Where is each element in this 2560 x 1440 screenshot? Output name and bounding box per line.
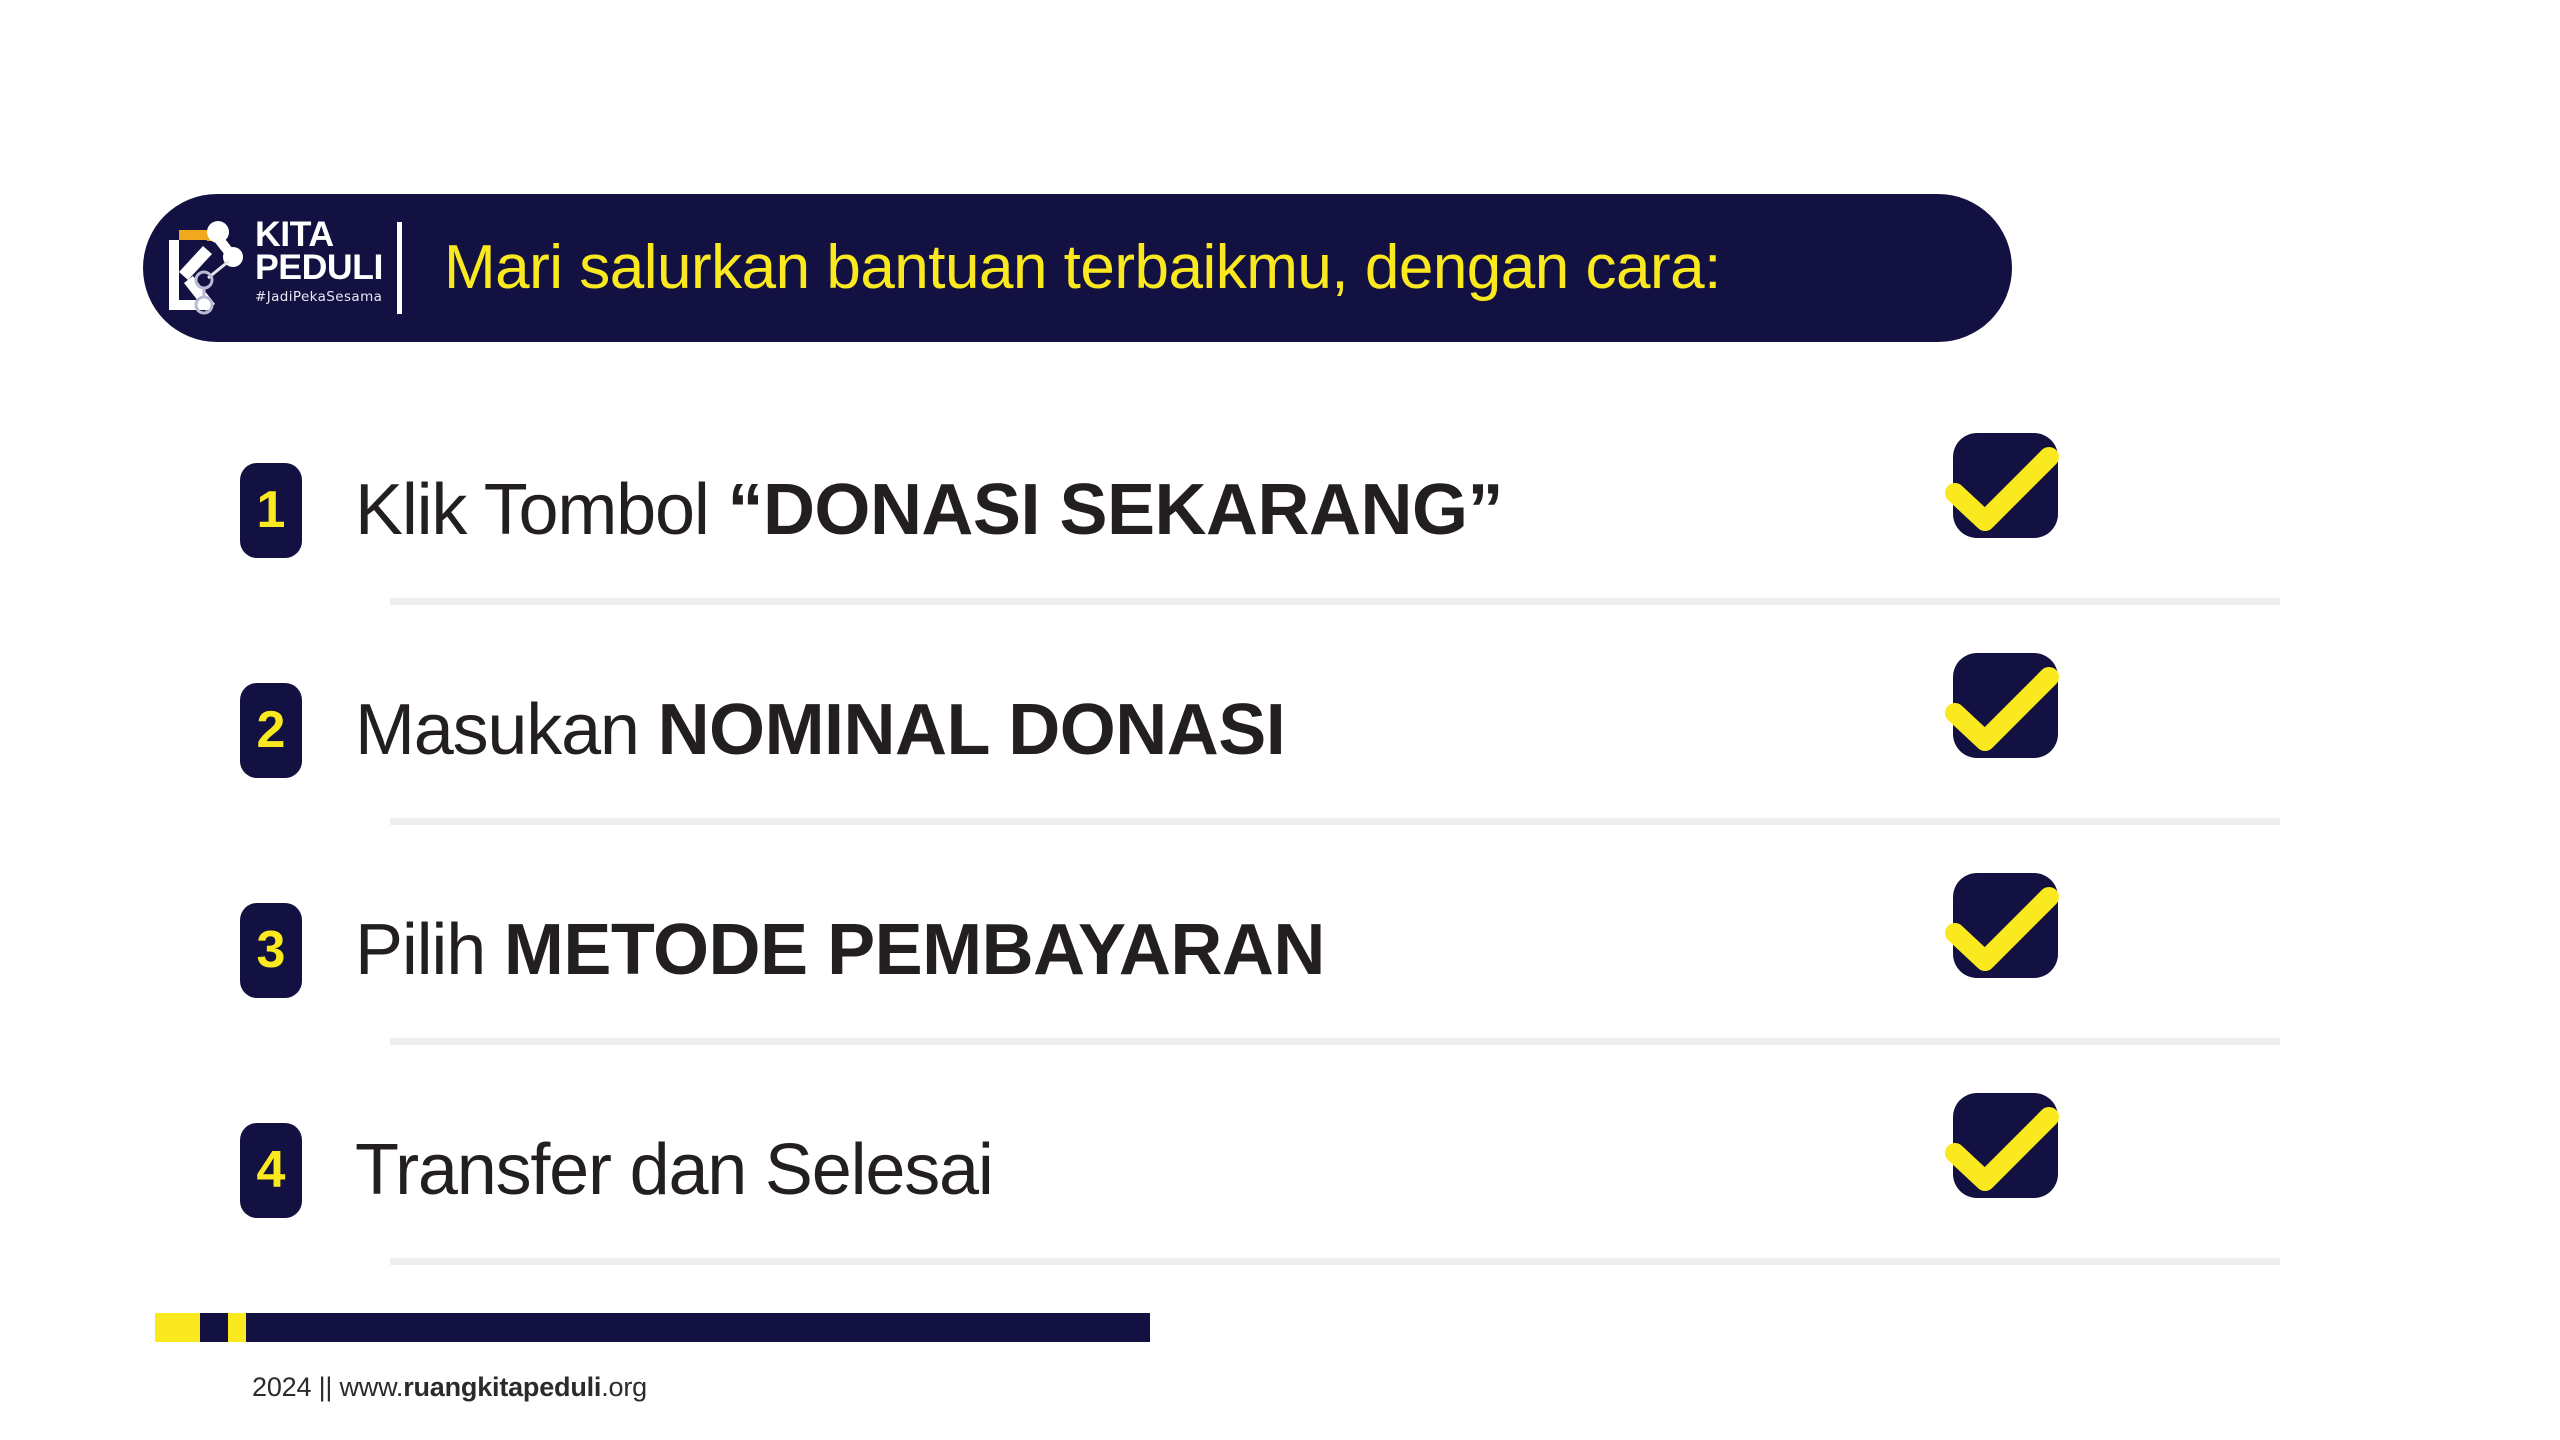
checkmark-icon[interactable] [1953, 653, 2058, 758]
checkmark-icon[interactable] [1953, 433, 2058, 538]
step-label-plain: Transfer dan Selesai [355, 1130, 993, 1210]
footer-bar-segment-yellow [155, 1313, 200, 1342]
step-label-strong: NOMINAL DONASI [658, 690, 1286, 770]
step-label-strong: METODE PEMBAYARAN [504, 910, 1325, 990]
step-number-badge: 4 [240, 1123, 302, 1218]
step-row: 2 Masukan NOMINAL DONASI [0, 640, 2560, 860]
steps-list: 1 Klik Tombol “DONASI SEKARANG” 2 Masuka… [0, 420, 2560, 1300]
step-number-badge: 2 [240, 683, 302, 778]
brand-logo: KITA PEDULI #JadiPekaSesama [143, 194, 393, 342]
checkmark-icon[interactable] [1953, 873, 2058, 978]
step-label: Pilih METODE PEMBAYARAN [355, 914, 1325, 986]
checkmark-icon[interactable] [1953, 1093, 2058, 1198]
step-number-badge: 1 [240, 463, 302, 558]
step-content: 4 Transfer dan Selesai [240, 1080, 2560, 1260]
wordmark-line-peduli: PEDULI [255, 251, 388, 284]
step-label: Klik Tombol “DONASI SEKARANG” [355, 474, 1503, 546]
step-divider [390, 1258, 2280, 1265]
step-divider [390, 598, 2280, 605]
kita-peduli-k-node-logo-icon [163, 220, 261, 316]
footer-bar-segment-yellow [228, 1313, 246, 1342]
step-label: Transfer dan Selesai [355, 1134, 993, 1206]
step-label: Masukan NOMINAL DONASI [355, 694, 1285, 766]
brand-wordmark: KITA PEDULI #JadiPekaSesama [255, 218, 385, 305]
step-row: 1 Klik Tombol “DONASI SEKARANG” [0, 420, 2560, 640]
step-label-strong: “DONASI SEKARANG” [727, 470, 1503, 550]
header-title: Mari salurkan bantuan terbaikmu, dengan … [444, 237, 1721, 299]
header-banner: KITA PEDULI #JadiPekaSesama Mari salurka… [143, 194, 2012, 342]
footer-accent-bar [155, 1313, 1150, 1342]
step-label-plain: Pilih [355, 910, 504, 990]
header-vertical-divider [397, 222, 402, 314]
step-row: 4 Transfer dan Selesai [0, 1080, 2560, 1300]
wordmark-line-kita: KITA [255, 218, 388, 251]
footer-year-prefix: 2024 || www. [252, 1372, 403, 1402]
step-content: 3 Pilih METODE PEMBAYARAN [240, 860, 2560, 1040]
step-row: 3 Pilih METODE PEMBAYARAN [0, 860, 2560, 1080]
step-divider [390, 1038, 2280, 1045]
footer-domain-suffix: .org [601, 1372, 647, 1402]
footer-bar-segment-navy [200, 1313, 228, 1342]
footer-bar-segment-navy [246, 1313, 1150, 1342]
step-divider [390, 818, 2280, 825]
brand-tagline: #JadiPekaSesama [255, 289, 385, 305]
step-content: 2 Masukan NOMINAL DONASI [240, 640, 2560, 820]
footer-domain: ruangkitapeduli [403, 1372, 601, 1402]
step-label-plain: Klik Tombol [355, 470, 727, 550]
footer-credit: 2024 || www.ruangkitapeduli.org [252, 1372, 647, 1403]
step-content: 1 Klik Tombol “DONASI SEKARANG” [240, 420, 2560, 600]
step-number-badge: 3 [240, 903, 302, 998]
step-label-plain: Masukan [355, 690, 658, 770]
